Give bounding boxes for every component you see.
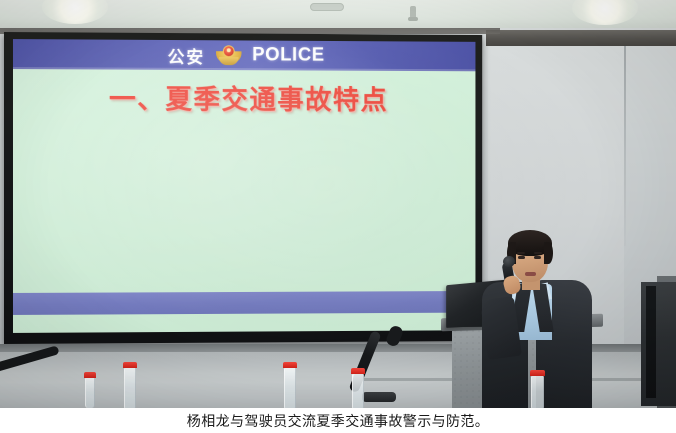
slide-title: 一、夏季交通事故特点 bbox=[13, 77, 475, 117]
eyebrow-left bbox=[517, 252, 525, 254]
wall-seam-line bbox=[624, 46, 626, 246]
ceiling-vent-icon bbox=[310, 3, 344, 11]
slide-accent-band bbox=[13, 291, 475, 315]
mouth bbox=[525, 272, 536, 276]
photograph-with-caption: 公安 POLICE 一、夏季交通事故特点 bbox=[0, 0, 676, 433]
water-bottle-icon bbox=[123, 362, 137, 410]
projection-screen: 公安 POLICE 一、夏季交通事故特点 bbox=[4, 32, 482, 344]
agency-name-en: POLICE bbox=[252, 44, 325, 66]
agency-name-cn: 公安 bbox=[168, 42, 205, 67]
eyebrow-right bbox=[534, 252, 542, 254]
wall-beam-trim bbox=[486, 30, 676, 46]
water-bottle-icon bbox=[84, 372, 96, 408]
caption-text: 杨相龙与驾驶员交流夏季交通事故警示与防范。 bbox=[187, 411, 489, 431]
police-badge-icon bbox=[216, 45, 242, 65]
hair-side-right bbox=[544, 242, 553, 264]
water-bottle-icon bbox=[530, 370, 545, 410]
eye-right bbox=[534, 256, 541, 259]
water-bottle-icon bbox=[283, 362, 297, 410]
eye-left bbox=[518, 256, 525, 259]
projected-slide: 公安 POLICE 一、夏季交通事故特点 bbox=[13, 39, 475, 333]
caption-bar: 杨相龙与驾驶员交流夏季交通事故警示与防范。 bbox=[0, 408, 676, 433]
water-bottle-icon bbox=[351, 368, 365, 410]
loudspeaker-grille bbox=[646, 286, 656, 398]
sprinkler-head-icon bbox=[410, 6, 416, 20]
microphone-base bbox=[362, 392, 396, 402]
slide-header-band: 公安 POLICE bbox=[13, 39, 475, 71]
conference-room-scene: 公安 POLICE 一、夏季交通事故特点 bbox=[0, 0, 676, 410]
